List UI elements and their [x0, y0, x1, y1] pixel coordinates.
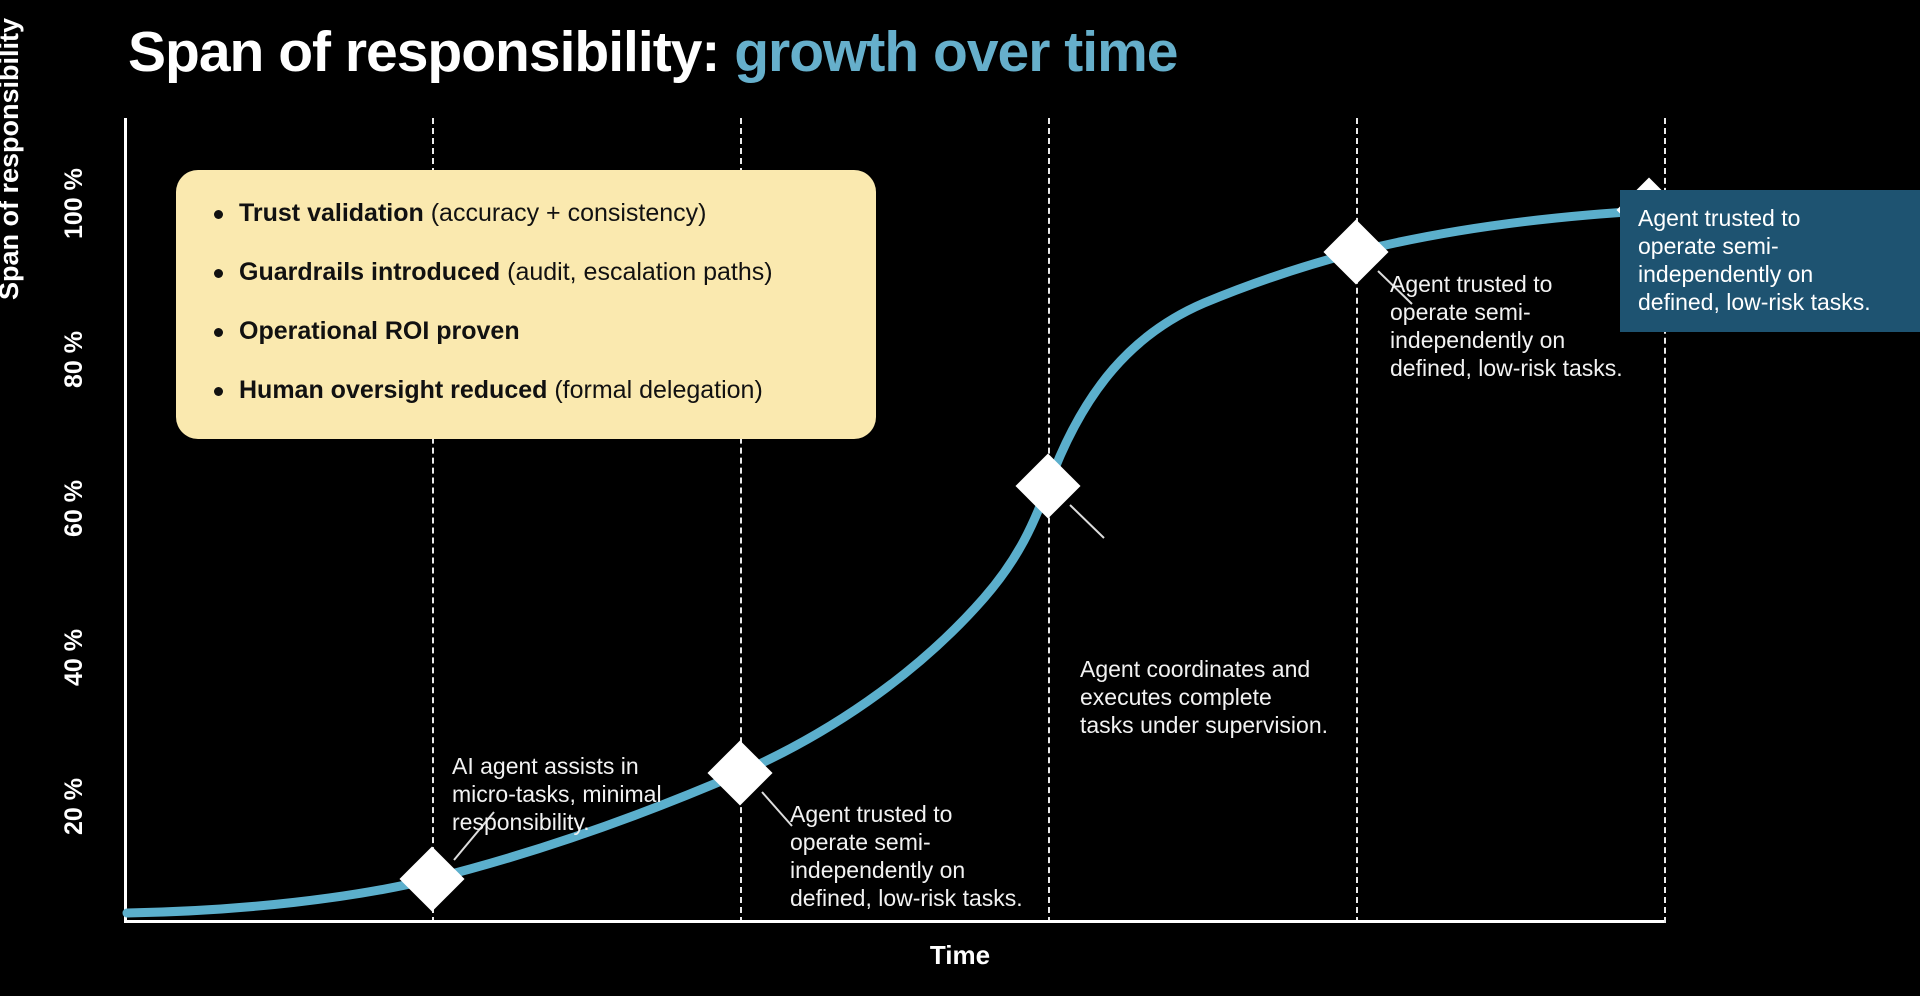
y-tick-60: 60 %	[60, 480, 89, 537]
y-axis-label: Span of responsibility	[0, 18, 25, 300]
legend-item-detail: (audit, escalation paths)	[500, 258, 772, 286]
annotation-2: Agent trusted to operate semi- independe…	[790, 800, 1055, 912]
legend-item: Human oversight reduced (formal delegati…	[206, 375, 846, 405]
y-tick-20: 20 %	[60, 778, 89, 835]
legend-item: Guardrails introduced (audit, escalation…	[206, 257, 846, 287]
legend-item-title: Guardrails introduced	[239, 258, 500, 286]
annotation-5: Agent trusted to operate semi- independe…	[1620, 190, 1920, 332]
legend-item-detail: (formal delegation)	[547, 376, 762, 404]
title-main: Span of responsibility:	[128, 20, 734, 84]
legend-item: Operational ROI proven	[206, 316, 846, 346]
legend-item-detail: (accuracy + consistency)	[424, 199, 707, 227]
legend-item-title: Human oversight reduced	[239, 376, 547, 404]
x-axis-label: Time	[0, 940, 1920, 971]
bullet-icon	[214, 269, 223, 278]
legend-item-title: Operational ROI proven	[239, 317, 520, 345]
page-title: Span of responsibility: growth over time	[128, 20, 1177, 86]
y-tick-100: 100 %	[60, 168, 89, 239]
y-tick-80: 80 %	[60, 331, 89, 388]
y-tick-40: 40 %	[60, 629, 89, 686]
bullet-icon	[214, 210, 223, 219]
title-accent: growth over time	[734, 20, 1177, 84]
annotation-1: AI agent assists in micro-tasks, minimal…	[452, 752, 712, 836]
chart-canvas: Span of responsibility: growth over time…	[0, 0, 1920, 996]
bullet-icon	[214, 387, 223, 396]
key-takeaways-card: Trust validation (accuracy + consistency…	[176, 170, 876, 439]
legend-list: Trust validation (accuracy + consistency…	[206, 198, 846, 405]
annotation-3: Agent coordinates and executes complete …	[1080, 655, 1360, 739]
legend-item: Trust validation (accuracy + consistency…	[206, 198, 846, 228]
legend-item-title: Trust validation	[239, 199, 424, 227]
bullet-icon	[214, 328, 223, 337]
